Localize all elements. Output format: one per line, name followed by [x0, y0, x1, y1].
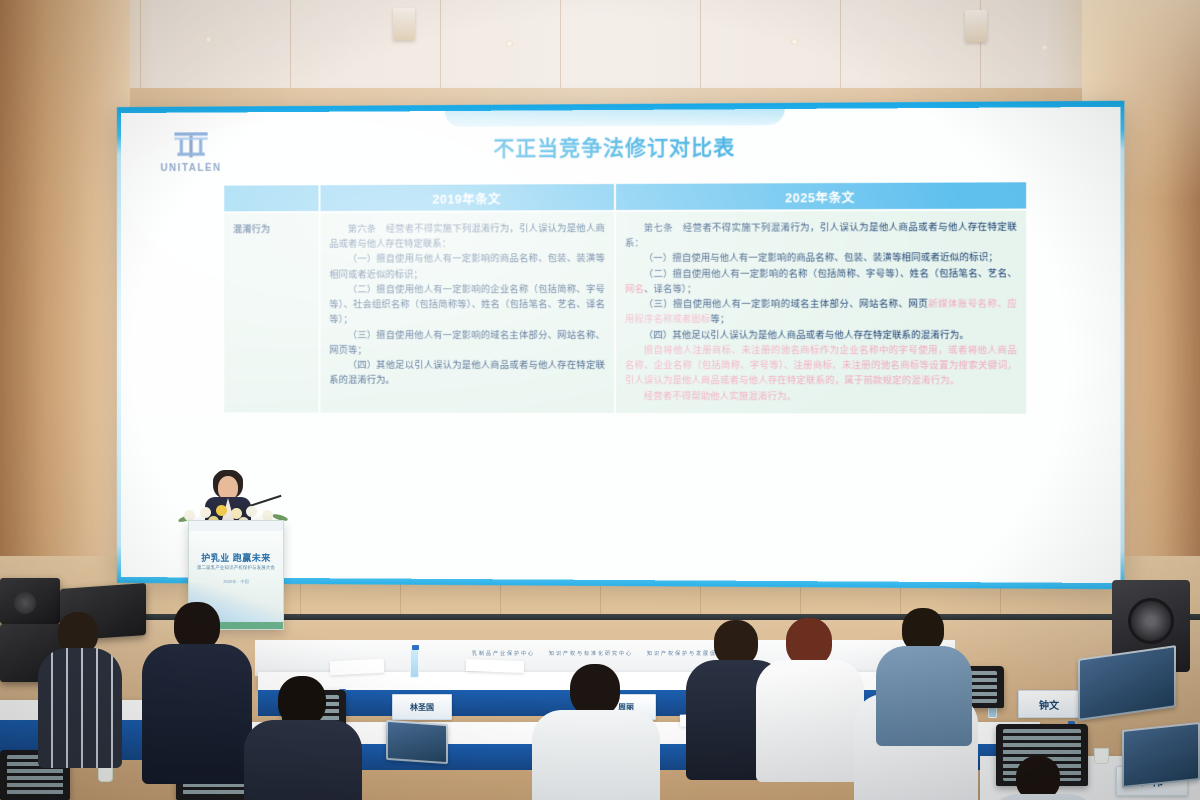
- clause-2025-p3b-new: 网名: [625, 283, 644, 294]
- podium-headline: 护乳业 跑赢未来: [189, 551, 283, 564]
- laptop-screen: [388, 722, 446, 762]
- ceiling-light: [505, 40, 514, 47]
- clause-2025-p6-new: 擅自将他人注册商标、未注册的驰名商标作为企业名称中的字号使用，或者将他人商品名称…: [625, 342, 1017, 388]
- back-wall-banner-text: 乳制品产业保护中心 知识产权与标准化研究中心 知识产权保护与发展促进联盟: [255, 650, 955, 657]
- paper-cup: [1094, 748, 1109, 764]
- logo-wordmark: UNITALEN: [150, 163, 232, 174]
- nameplate: 林圣国: [392, 694, 452, 720]
- clause-2019-p1: 第六条 经营者不得实施下列混淆行为，引人误认为是他人商品或者与他人存在特定联系：: [329, 220, 605, 251]
- clause-2019-p2: （一）擅自使用与他人有一定影响的商品名称、包装、装潢等相同或者近似的标识；: [329, 250, 605, 281]
- document-paper: [330, 659, 385, 676]
- slide-title: 不正当竞争法修订对比表: [121, 129, 1120, 164]
- clause-2025-p1: 第七条 经营者不得实施下列混淆行为，引人误认为是他人商品或者与他人存在特定联系：: [625, 219, 1017, 251]
- clause-2025-p3: （二）擅自使用他人有一定影响的名称（包括简称、字号等）、姓名（包括笔名、艺名、网…: [625, 265, 1017, 296]
- clause-2025-p3a: （二）擅自使用他人有一定影响的名称（包括简称、字号等）、姓名（包括笔名、艺名、: [644, 267, 1017, 279]
- header-blank: [224, 185, 318, 211]
- clause-2025-p3c: 、译名等）；: [644, 283, 696, 294]
- clause-2019-p4: （三）擅自使用他人有一定影响的域名主体部分、网站名称、网页等；: [329, 327, 605, 357]
- loudspeaker-right-cone: [1128, 598, 1174, 644]
- laptop-screen: [1080, 647, 1174, 718]
- row-label-confusion: 混淆行为: [224, 213, 318, 412]
- water-bottle: [410, 648, 419, 678]
- header-2025: 2025年条文: [616, 182, 1026, 210]
- laptop-screen: [1124, 724, 1198, 786]
- ceiling-projector-fixture: [965, 10, 987, 42]
- nameplate-text: 林圣国: [410, 702, 434, 713]
- clause-2025-p4a: （三）擅自使用他人有一定影响的域名主体部分、网站名称、网页: [644, 298, 928, 309]
- table-row: 混淆行为 第六条 经营者不得实施下列混淆行为，引人误认为是他人商品或者与他人存在…: [224, 211, 1026, 414]
- nameplate: 钟文: [1018, 690, 1080, 718]
- clause-2025-p4: （三）擅自使用他人有一定影响的域名主体部分、网站名称、网页新媒体账号名称、应用程…: [625, 296, 1017, 327]
- ceiling-projector-fixture: [393, 8, 415, 40]
- loudspeaker-cone: [14, 592, 36, 614]
- nameplate-text: 钟文: [1039, 697, 1059, 712]
- clause-2019-p3: （二）擅自使用他人有一定影响的企业名称（包括简称、字号等）、社会组织名称（包括简…: [329, 281, 605, 327]
- table-header-row: 2019年条文 2025年条文: [224, 182, 1026, 211]
- cell-2025-text: 第七条 经营者不得实施下列混淆行为，引人误认为是他人商品或者与他人存在特定联系：…: [616, 211, 1026, 414]
- ceiling-light: [790, 38, 799, 45]
- header-2019: 2019年条文: [320, 184, 614, 211]
- ceiling-light: [1040, 44, 1049, 51]
- slide-top-band: [445, 109, 785, 127]
- ceiling-light: [204, 36, 213, 43]
- clause-2025-p2: （一）擅自使用与他人有一定影响的商品名称、包装、装潢等相同或者近似的标识；: [625, 249, 1017, 265]
- clause-2025-p7-new: 经营者不得帮助他人实施混淆行为。: [625, 388, 1017, 404]
- conference-photo-scene: UNITALEN 不正当竞争法修订对比表 2019年条文 2025年条文 混淆行…: [0, 0, 1200, 800]
- ceiling: [0, 0, 1200, 96]
- clause-2019-p5: （四）其他足以引人误认为是他人商品或者与他人存在特定联系的混淆行为。: [329, 357, 605, 388]
- laptop[interactable]: [386, 720, 448, 764]
- clause-2025-p5: （四）其他足以引人误认为是他人商品或者与他人存在特定联系的混淆行为。: [625, 326, 1017, 341]
- document-paper: [466, 659, 524, 673]
- podium-subline: 第二届乳产业知识产权保护与发展大会: [189, 565, 283, 571]
- wall-left: [0, 0, 130, 640]
- comparison-table: 2019年条文 2025年条文 混淆行为 第六条 经营者不得实施下列混淆行为，引…: [222, 180, 1028, 415]
- cell-2019-text: 第六条 经营者不得实施下列混淆行为，引人误认为是他人商品或者与他人存在特定联系：…: [320, 212, 614, 413]
- clause-2025-p4c: 等；: [710, 313, 729, 324]
- paper-cup: [98, 766, 113, 782]
- laptop[interactable]: [1122, 722, 1200, 788]
